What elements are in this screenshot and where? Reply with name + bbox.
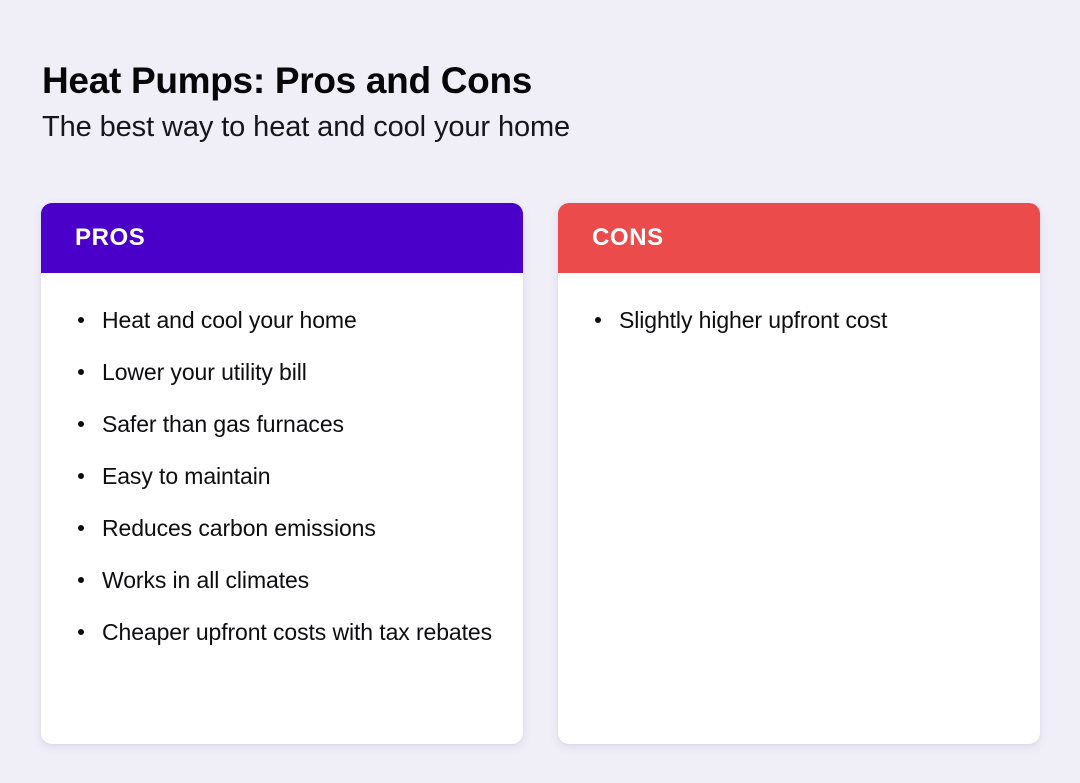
bullet-dot-icon: [78, 577, 84, 583]
header-block: Heat Pumps: Pros and Cons The best way t…: [42, 58, 1042, 146]
pros-card: PROS Heat and cool your home Lower your …: [41, 203, 523, 744]
cons-card-header: CONS: [558, 203, 1040, 273]
list-item: Slightly higher upfront cost: [584, 305, 1014, 336]
list-item: Reduces carbon emissions: [67, 513, 497, 544]
page-title: Heat Pumps: Pros and Cons: [42, 58, 1042, 104]
cons-list: Slightly higher upfront cost: [584, 305, 1014, 336]
list-item-label: Lower your utility bill: [102, 359, 307, 385]
list-item-label: Reduces carbon emissions: [102, 515, 376, 541]
list-item-label: Heat and cool your home: [102, 307, 357, 333]
page-subtitle: The best way to heat and cool your home: [42, 108, 1042, 146]
pros-cons-infographic: Heat Pumps: Pros and Cons The best way t…: [0, 0, 1080, 783]
list-item: Lower your utility bill: [67, 357, 497, 388]
list-item-label: Slightly higher upfront cost: [619, 307, 887, 333]
pros-card-header-label: PROS: [75, 224, 145, 252]
bullet-dot-icon: [78, 369, 84, 375]
cards-row: PROS Heat and cool your home Lower your …: [41, 203, 1040, 744]
bullet-dot-icon: [78, 525, 84, 531]
bullet-dot-icon: [78, 629, 84, 635]
pros-card-body: Heat and cool your home Lower your utili…: [41, 273, 523, 744]
list-item-label: Cheaper upfront costs with tax rebates: [102, 619, 492, 645]
cons-card-body: Slightly higher upfront cost: [558, 273, 1040, 744]
list-item-label: Works in all climates: [102, 567, 309, 593]
cons-card: CONS Slightly higher upfront cost: [558, 203, 1040, 744]
list-item-label: Safer than gas furnaces: [102, 411, 344, 437]
cons-card-header-label: CONS: [592, 224, 664, 252]
bullet-dot-icon: [595, 317, 601, 323]
bullet-dot-icon: [78, 317, 84, 323]
list-item: Heat and cool your home: [67, 305, 497, 336]
bullet-dot-icon: [78, 473, 84, 479]
list-item: Easy to maintain: [67, 461, 497, 492]
pros-card-header: PROS: [41, 203, 523, 273]
list-item: Safer than gas furnaces: [67, 409, 497, 440]
bullet-dot-icon: [78, 421, 84, 427]
list-item: Cheaper upfront costs with tax rebates: [67, 617, 497, 648]
pros-list: Heat and cool your home Lower your utili…: [67, 305, 497, 648]
list-item-label: Easy to maintain: [102, 463, 270, 489]
list-item: Works in all climates: [67, 565, 497, 596]
